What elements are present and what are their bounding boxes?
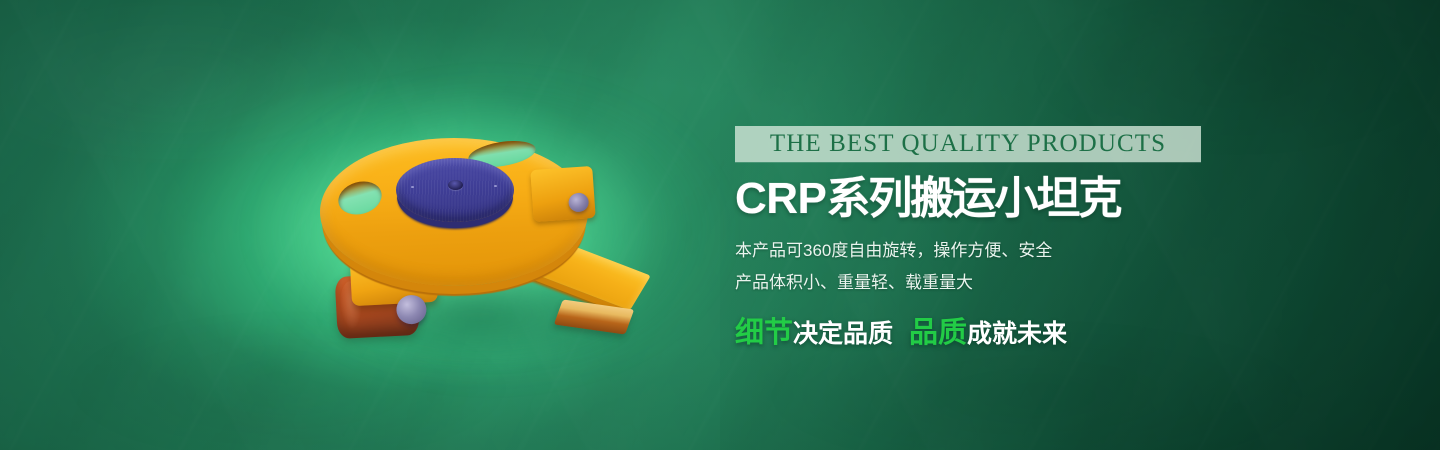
headline-latin: CRP	[735, 174, 826, 223]
subtext-line-1: 本产品可360度自由旋转，操作方便、安全	[735, 235, 1295, 267]
slogan-text-2: 成就未来	[967, 320, 1067, 348]
product-rotating-plate	[396, 158, 514, 222]
subtext-line-2: 产品体积小、重量轻、载重量大	[735, 267, 1295, 299]
slogan-text-1: 决定品质	[793, 320, 893, 348]
banner-copy: THE BEST QUALITY PRODUCTS CRP系列搬运小坦克 本产品…	[735, 126, 1295, 351]
plate-center-hub	[448, 180, 463, 190]
slogan-highlight-2: 品质	[909, 317, 967, 349]
caster-bracket	[530, 166, 595, 222]
slogan: 细节决定品质品质成就未来	[735, 309, 1295, 351]
promo-banner: THE BEST QUALITY PRODUCTS CRP系列搬运小坦克 本产品…	[0, 0, 1440, 450]
tagline-ribbon: THE BEST QUALITY PRODUCTS	[735, 126, 1201, 162]
headline: CRP系列搬运小坦克	[735, 176, 1295, 223]
product-rear-caster	[530, 166, 595, 222]
plate-marker-dot	[411, 186, 414, 188]
headline-chinese: 系列搬运小坦克	[826, 174, 1120, 223]
slogan-highlight-1: 细节	[735, 317, 793, 349]
subtext-block: 本产品可360度自由旋转，操作方便、安全 产品体积小、重量轻、载重量大	[735, 235, 1295, 299]
tagline-text: THE BEST QUALITY PRODUCTS	[770, 130, 1166, 158]
product-image	[300, 120, 680, 370]
caster-hub	[396, 294, 427, 325]
plate-marker-dot	[494, 185, 497, 187]
